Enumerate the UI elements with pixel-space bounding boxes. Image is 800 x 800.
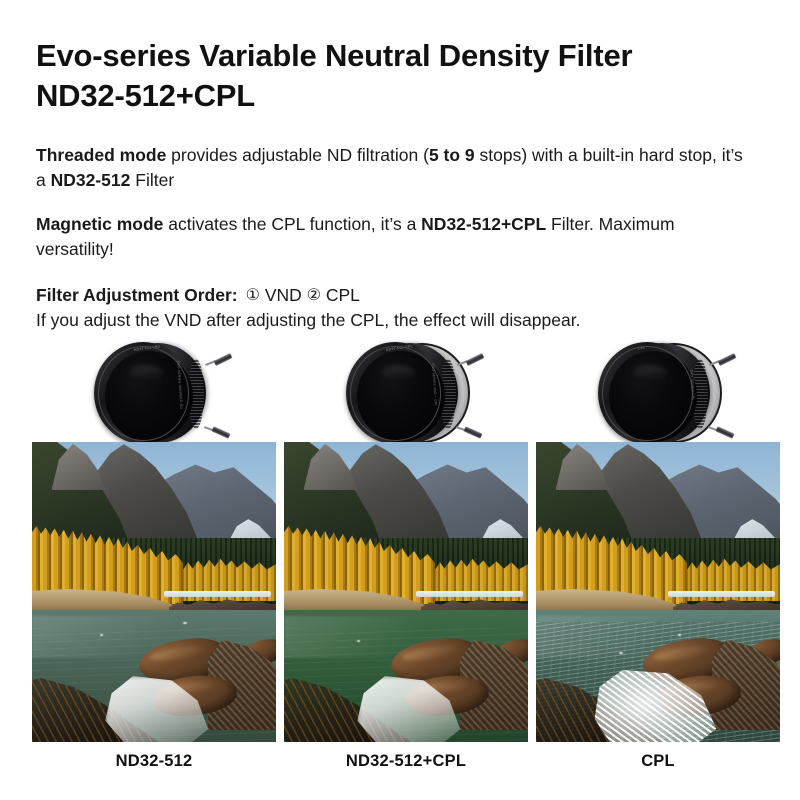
filter-illustration: CPL EVO-SERIES CPL	[592, 339, 724, 447]
adjustment-step-1: VND	[265, 285, 302, 305]
landscape-scene	[536, 442, 780, 742]
far-water-streak	[164, 591, 271, 598]
circled-one-icon: ①	[246, 288, 260, 304]
filter-ring-engraving: ND32-512+CPL	[386, 344, 413, 352]
boulder-highlight	[402, 643, 457, 662]
paragraph-magnetic-mode: Magnetic mode activates the CPL function…	[36, 212, 756, 262]
filter-front-rim: ND32-512 VND	[94, 342, 192, 444]
circled-two-icon: ②	[307, 288, 321, 304]
adjustment-order-steps: ① VND ② CPL	[238, 285, 360, 305]
filter-product-cpl: CPL EVO-SERIES CPL	[536, 337, 780, 449]
threaded-text-c: Filter	[130, 170, 174, 190]
filter-product-nd32-512-cpl: ND32-512+CPL EVO-SERIES VND + CPL	[284, 337, 528, 449]
adjustment-order-note: If you adjust the VND after adjusting th…	[36, 310, 580, 330]
magnetic-mode-label: Magnetic mode	[36, 214, 163, 234]
water-sparkle	[619, 652, 623, 654]
boulder-highlight	[150, 643, 205, 662]
paragraph-threaded-mode: Threaded mode provides adjustable ND fil…	[36, 143, 756, 193]
filter-illustration: ND32-512+CPL EVO-SERIES VND + CPL	[340, 339, 472, 447]
filter-product-nd32-512: ND32-512 VND EVO-SERIES VARIABLE ND	[32, 337, 276, 449]
threaded-mode-label: Threaded mode	[36, 145, 166, 165]
sample-photo-nd32-512	[32, 442, 276, 742]
product-infographic: Evo-series Variable Neutral Density Filt…	[0, 0, 800, 800]
filter-glass-reflection	[381, 365, 415, 381]
far-water-streak	[416, 591, 523, 598]
filter-lever-tab-upper	[718, 353, 736, 365]
sample-photo-row	[32, 442, 780, 742]
landscape-scene	[32, 442, 276, 742]
far-water-streak	[668, 591, 775, 598]
threaded-model-name: ND32-512	[51, 170, 131, 190]
filter-illustration: ND32-512 VND EVO-SERIES VARIABLE ND	[88, 339, 220, 447]
threaded-text-a: provides adjustable ND filtration (	[166, 145, 429, 165]
filter-nd-glass	[609, 351, 697, 442]
water-sparkle	[678, 634, 681, 636]
filter-front-rim: ND32-512+CPL	[346, 342, 444, 444]
page-title-line-1: Evo-series Variable Neutral Density Filt…	[36, 36, 766, 76]
filter-front-rim: CPL	[598, 342, 696, 444]
magnetic-text-a: activates the CPL function, it’s a	[163, 214, 421, 234]
filter-product-image-row: ND32-512 VND EVO-SERIES VARIABLE ND	[32, 337, 780, 449]
caption-cpl: CPL	[536, 752, 780, 771]
page-title: Evo-series Variable Neutral Density Filt…	[36, 36, 766, 116]
caption-nd32-512: ND32-512	[32, 752, 276, 771]
page-title-line-2: ND32-512+CPL	[36, 76, 766, 116]
caption-nd32-512-cpl: ND32-512+CPL	[284, 752, 528, 771]
filter-lever-tab-lower	[212, 427, 230, 439]
paragraph-adjustment-order: Filter Adjustment Order:① VND ② CPLIf yo…	[36, 283, 756, 333]
magnetic-model-name: ND32-512+CPL	[421, 214, 546, 234]
filter-lever-tab-lower	[464, 427, 482, 439]
adjustment-order-label: Filter Adjustment Order:	[36, 285, 238, 305]
adjustment-step-2: CPL	[326, 285, 360, 305]
boulder-highlight	[654, 643, 709, 662]
sample-photo-cpl	[536, 442, 780, 742]
sample-photo-nd32-512-cpl	[284, 442, 528, 742]
threaded-stops-value: 5 to 9	[429, 145, 475, 165]
filter-lever-tab-lower	[716, 427, 734, 439]
filter-ring-engraving: ND32-512 VND	[134, 344, 161, 352]
filter-glass-reflection	[129, 365, 163, 381]
filter-ring-engraving: CPL	[638, 346, 646, 351]
filter-glass-reflection	[633, 365, 667, 381]
filter-lever-tab-upper	[214, 353, 232, 365]
filter-lever-tab-upper	[466, 353, 484, 365]
sample-caption-row: ND32-512 ND32-512+CPL CPL	[32, 752, 780, 778]
landscape-scene	[284, 442, 528, 742]
